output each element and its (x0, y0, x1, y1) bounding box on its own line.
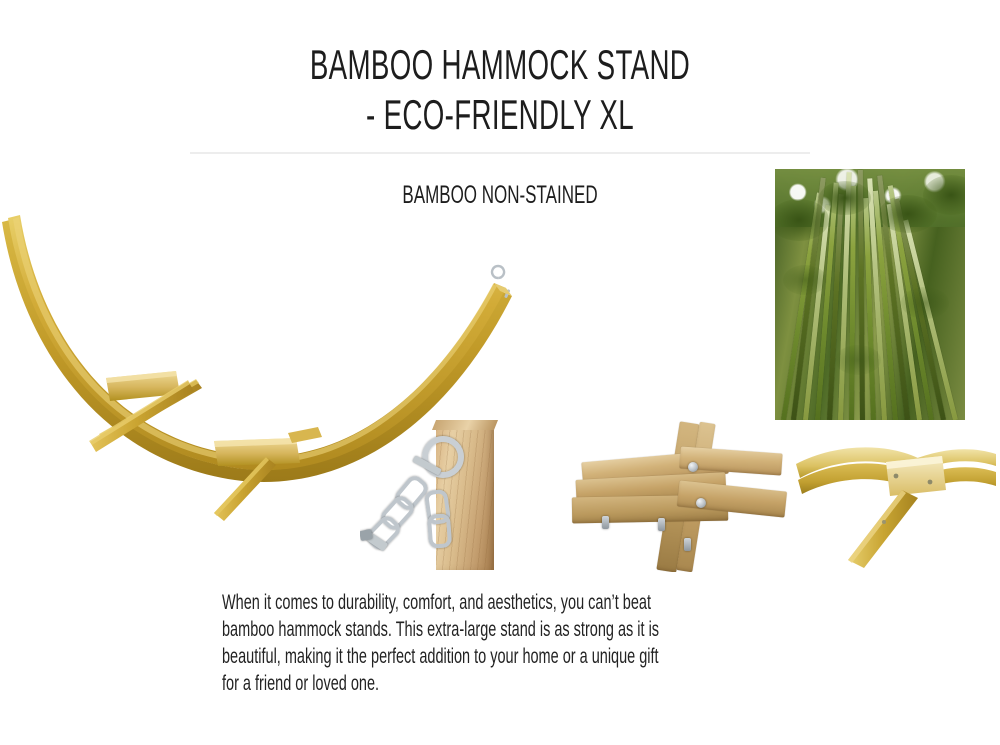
crossed-beam-bolted-joint-detail (560, 420, 792, 572)
page-title: BAMBOO HAMMOCK STAND - ECO-FRIENDLY XL (0, 40, 1000, 140)
description-line-2: bamboo hammock stands. This extra-large … (222, 616, 815, 643)
joint-bolt-2 (696, 498, 706, 508)
title-line-2: - ECO-FRIENDLY XL (170, 90, 830, 140)
chain-link-5 (427, 513, 452, 549)
bamboo-forest-photo (775, 169, 965, 420)
joint-nut-3 (684, 538, 691, 551)
curved-beam-illustration (790, 432, 998, 574)
joint-bolt-1 (688, 462, 698, 472)
description-line-1: When it comes to durability, comfort, an… (222, 589, 815, 616)
chain-and-post-hardware-detail (360, 418, 518, 570)
joint-nut-1 (602, 516, 609, 529)
description-line-3: beautiful, making it the perfect additio… (222, 643, 815, 670)
forest-culms (775, 169, 965, 420)
joint-nut-2 (658, 518, 665, 531)
eye-bolt-icon (422, 436, 464, 478)
header-divider (190, 152, 810, 154)
product-slide: BAMBOO HAMMOCK STAND - ECO-FRIENDLY XL B… (0, 0, 1000, 745)
title-line-1: BAMBOO HAMMOCK STAND (170, 40, 830, 90)
product-description: When it comes to durability, comfort, an… (222, 589, 815, 697)
curved-beam-and-leg-detail (790, 432, 998, 574)
wood-post-top-face (432, 420, 498, 430)
description-line-4: for a friend or loved one. (222, 670, 815, 697)
